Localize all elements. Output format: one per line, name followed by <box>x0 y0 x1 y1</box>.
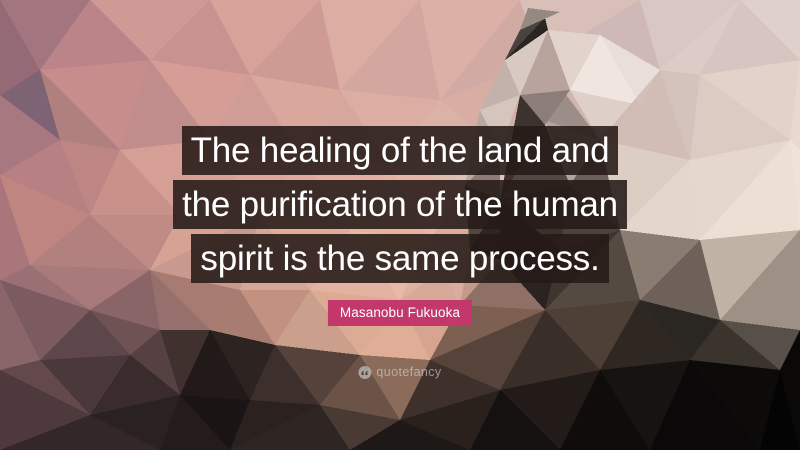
quote-block: The healing of the land and the purifica… <box>0 126 800 283</box>
quote-image: The healing of the land and the purifica… <box>0 0 800 450</box>
author-badge: Masanobu Fukuoka <box>328 300 472 326</box>
watermark-text: quotefancy <box>376 366 441 379</box>
quote-line-1: The healing of the land and <box>182 126 619 175</box>
watermark: quotefancy <box>358 366 441 379</box>
quote-line-3: spirit is the same process. <box>191 234 608 283</box>
quote-mark-icon <box>358 366 371 379</box>
quote-line-2: the purification of the human <box>173 180 627 229</box>
